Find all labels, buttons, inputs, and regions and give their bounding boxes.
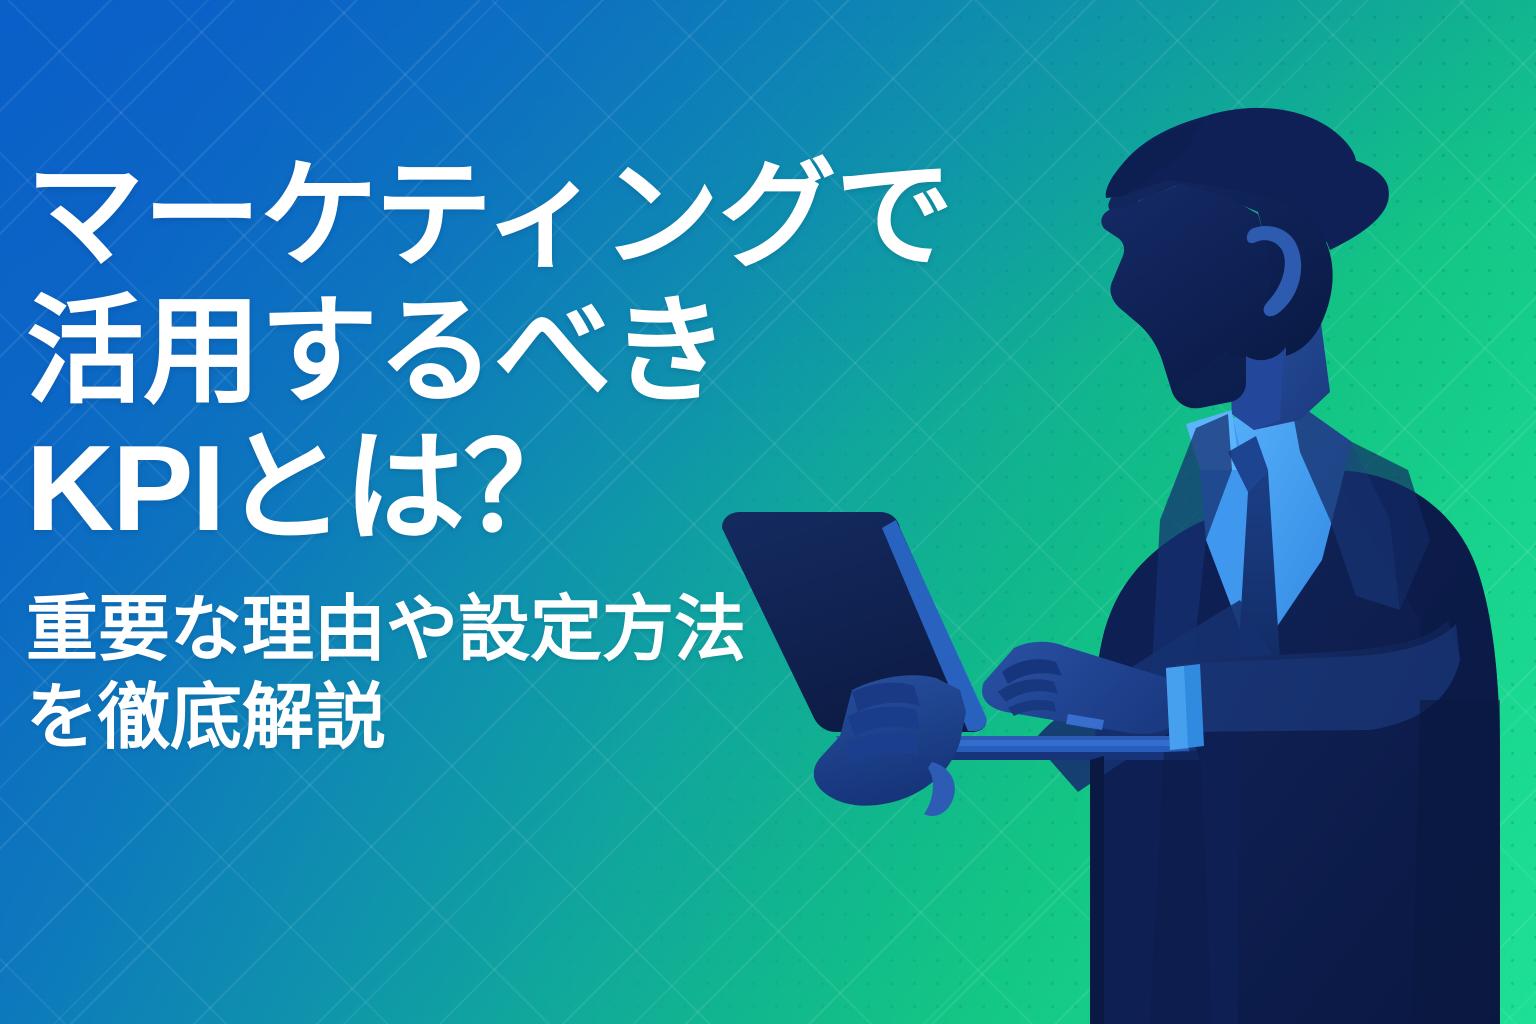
subtitle-line-2: を徹底解説 (26, 674, 1046, 762)
banner-text-block: マーケティングで 活用するべき KPIとは？ 重要な理由や設定方法 を徹底解説 (26, 148, 1046, 762)
banner-subtitle: 重要な理由や設定方法 を徹底解説 (26, 586, 1046, 762)
shirt-cuff (1166, 664, 1204, 750)
title-line-1: マーケティングで (26, 148, 1046, 284)
title-line-2: 活用するべき (26, 284, 1046, 420)
subtitle-line-1: 重要な理由や設定方法 (26, 586, 1046, 674)
banner-canvas: マーケティングで 活用するべき KPIとは？ 重要な理由や設定方法 を徹底解説 (0, 0, 1536, 1024)
head-silhouette (1101, 108, 1388, 408)
title-line-3: KPIとは？ (26, 420, 1046, 556)
